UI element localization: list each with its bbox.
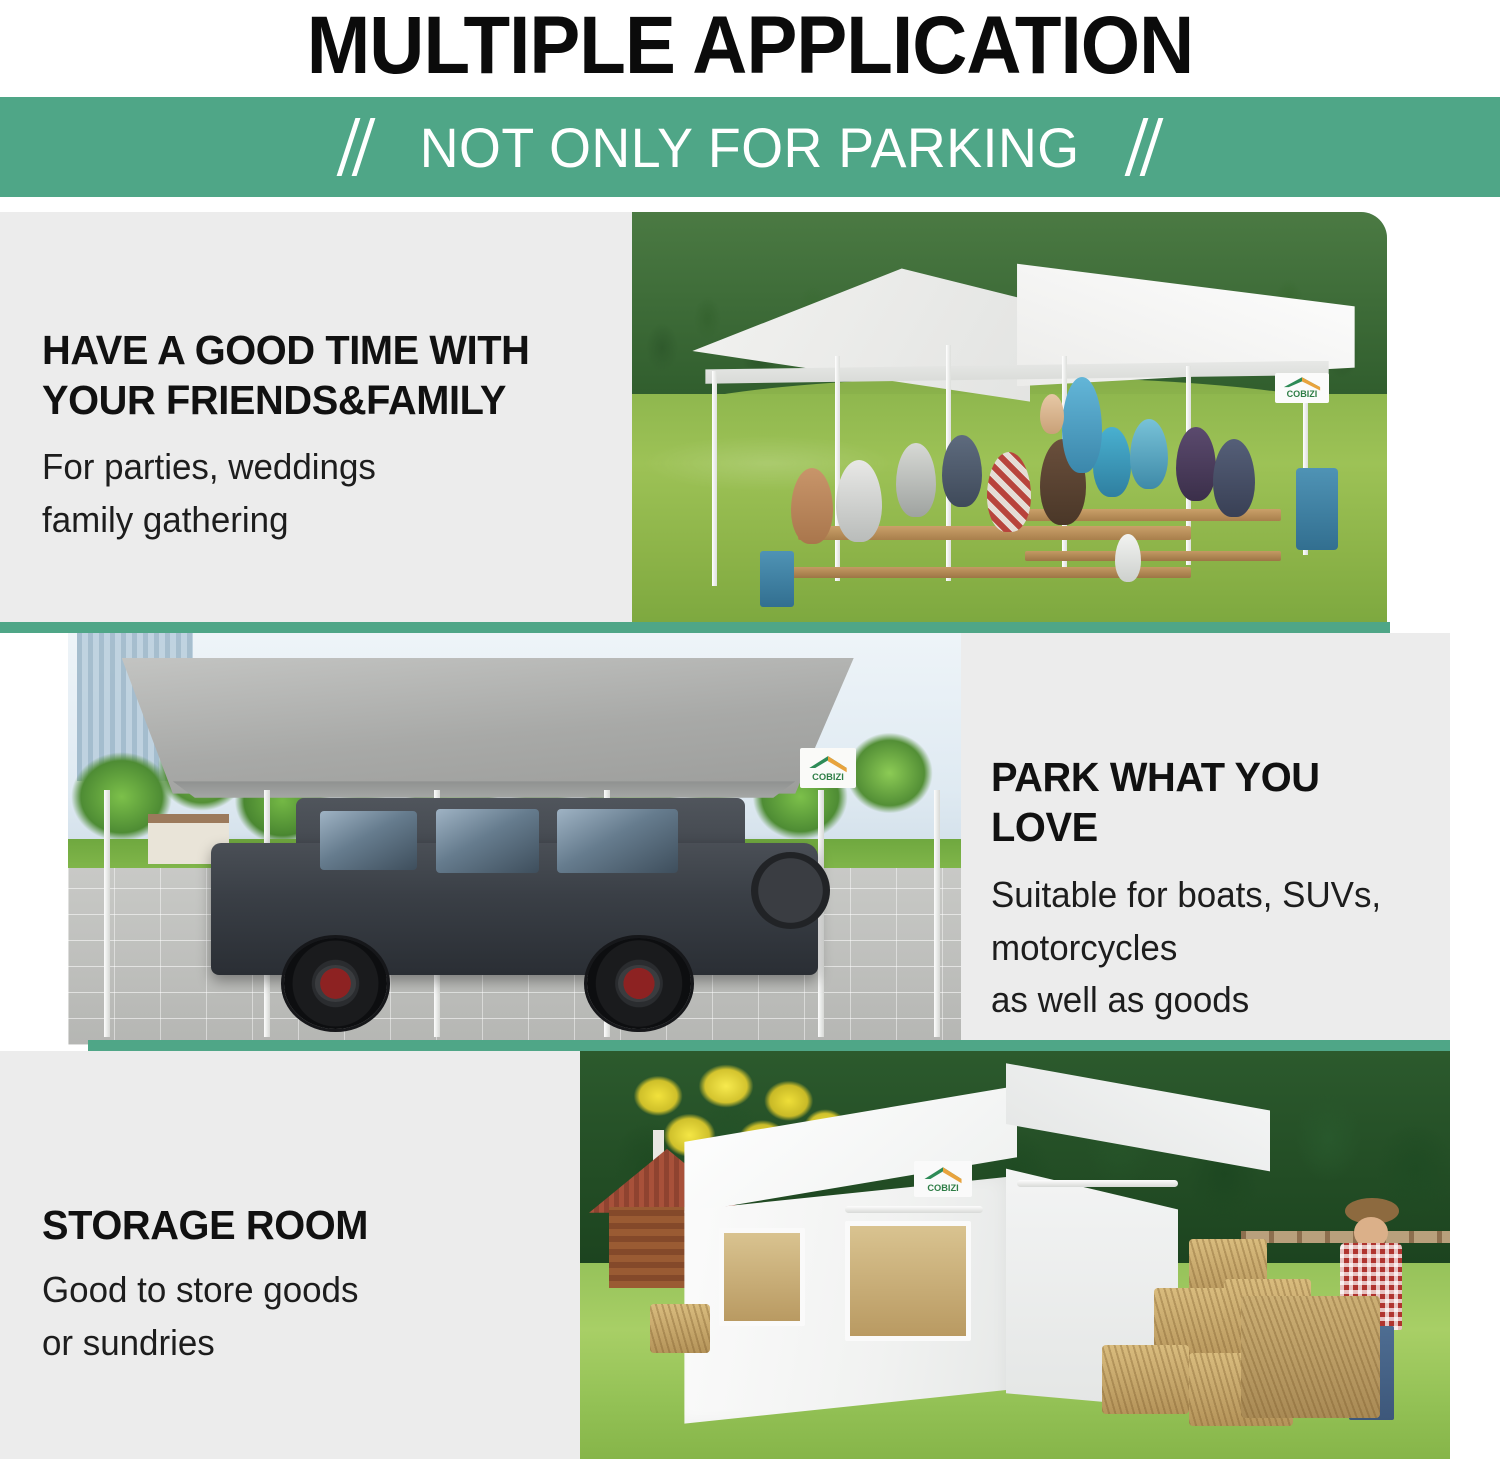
carport-leg — [934, 790, 940, 1037]
header-subtitle-band: NOT ONLY FOR PARKING — [0, 97, 1500, 197]
section-storage-body-line2: or sundries — [42, 1317, 546, 1370]
section-park-title: PARK WHAT YOU LOVE — [991, 752, 1428, 852]
hay-bale-outside — [650, 1304, 711, 1353]
suv-spare-tire — [751, 852, 830, 929]
chair — [1296, 468, 1338, 550]
section-friends-family-body-line2: family gathering — [42, 494, 605, 547]
child — [1115, 534, 1141, 582]
svg-text:COBIZI: COBIZI — [927, 1183, 958, 1193]
suv-window — [320, 811, 417, 870]
suv-wheel-front — [284, 938, 387, 1029]
canopy-leg — [835, 356, 840, 581]
child — [1040, 394, 1064, 434]
suv-window — [436, 809, 539, 872]
carport-leg — [104, 790, 110, 1037]
brand-logo: COBIZI — [1275, 373, 1329, 403]
section-friends-family-text: HAVE A GOOD TIME WITH YOUR FRIENDS&FAMIL… — [42, 325, 622, 546]
section-park-image: COBIZI — [68, 633, 961, 1045]
section-storage-title: STORAGE ROOM — [42, 1200, 546, 1250]
carport-roof — [122, 658, 854, 794]
section-divider — [88, 1040, 1450, 1051]
section-friends-family-image: COBIZI — [632, 212, 1387, 625]
suv-vehicle — [211, 798, 818, 1025]
title-line-2: YOUR FRIENDS&FAMILY — [42, 375, 605, 425]
suv-window — [557, 809, 678, 872]
tent-window — [719, 1228, 805, 1326]
svg-text:COBIZI: COBIZI — [1286, 390, 1317, 400]
section-park-text: PARK WHAT YOU LOVE Suitable for boats, S… — [991, 752, 1441, 1027]
hay-cart — [1241, 1296, 1380, 1418]
section-divider — [0, 622, 1390, 633]
person — [836, 460, 882, 542]
suv-wheel-rear — [587, 938, 690, 1029]
carport-roof-edge — [122, 781, 854, 797]
brand-logo: COBIZI — [800, 748, 856, 788]
title-line-1: HAVE A GOOD TIME WITH — [42, 325, 605, 375]
picnic-bench — [1025, 551, 1282, 561]
section-storage-body-line1: Good to store goods — [42, 1264, 546, 1317]
person — [1176, 427, 1216, 501]
roll-up-bar — [845, 1206, 983, 1213]
hay-bale — [1102, 1345, 1189, 1414]
section-friends-family-body-line1: For parties, weddings — [42, 441, 605, 494]
brand-logo: COBIZI — [914, 1161, 972, 1197]
person — [942, 435, 982, 507]
tent-roof-right — [1006, 1063, 1270, 1176]
canopy-leg — [712, 371, 717, 586]
section-park-body-line1: Suitable for boats, SUVs, — [991, 869, 1428, 922]
tent-window — [845, 1221, 971, 1341]
double-slash-icon-left — [346, 118, 366, 176]
section-park-body-line3: as well as goods — [991, 974, 1428, 1027]
section-park-body-line2: motorcycles — [991, 922, 1428, 975]
section-storage-image: COBIZI — [580, 1051, 1450, 1459]
chair — [760, 551, 794, 607]
roll-up-bar — [1017, 1180, 1178, 1187]
person — [987, 452, 1031, 532]
section-friends-family-title: HAVE A GOOD TIME WITH YOUR FRIENDS&FAMIL… — [42, 325, 605, 425]
svg-text:COBIZI: COBIZI — [812, 772, 844, 782]
page-title: MULTIPLE APPLICATION — [53, 0, 1448, 96]
section-storage-text: STORAGE ROOM Good to store goods or sund… — [42, 1200, 562, 1369]
double-slash-icon-right — [1134, 118, 1154, 176]
header-subtitle: NOT ONLY FOR PARKING — [420, 115, 1080, 180]
person — [791, 468, 833, 544]
